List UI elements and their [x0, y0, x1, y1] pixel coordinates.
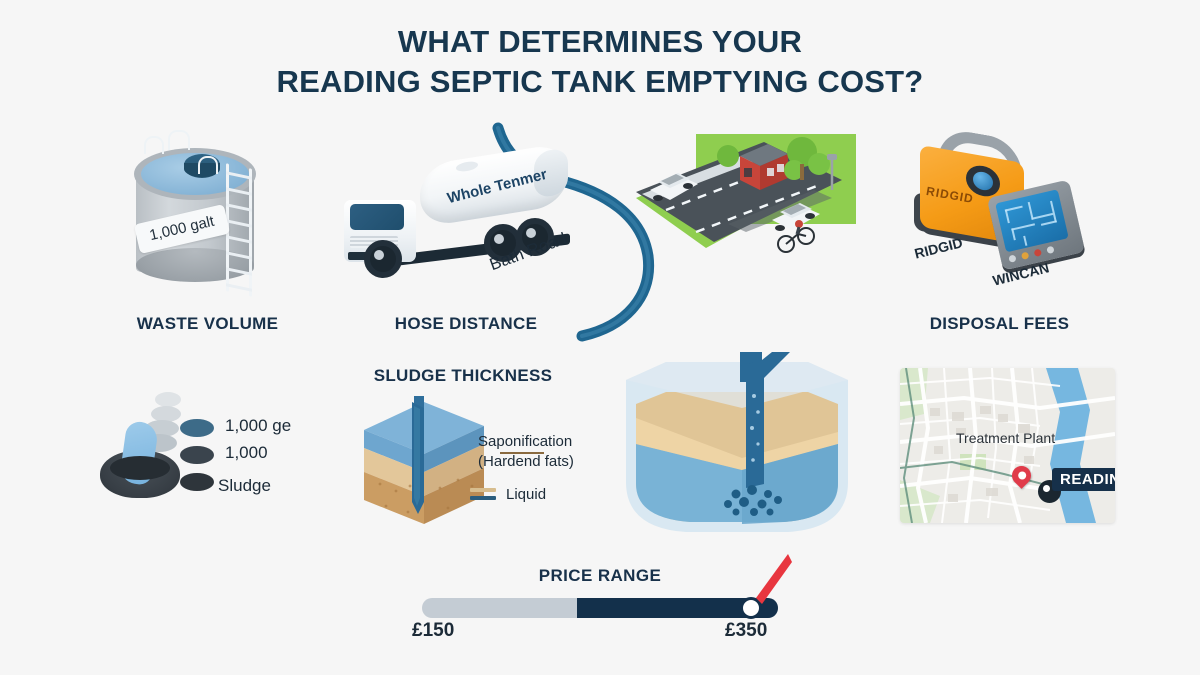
legend-label: 1,000 ge	[225, 416, 291, 436]
map-place-label: Treatment Plant	[956, 430, 1055, 446]
treatment-plant-map[interactable]: Treatment Plant READING	[900, 368, 1115, 523]
tank-rail	[144, 136, 164, 154]
page-title: WHAT DETERMINES YOUR READING SEPTIC TANK…	[0, 22, 1200, 102]
price-needle-icon	[752, 554, 792, 606]
septic-tank-cross-section-icon	[612, 352, 862, 542]
street-scene-icon	[636, 128, 856, 296]
title-line-1: WHAT DETERMINES YOUR	[398, 24, 802, 59]
callout-line-2: (Hardend fats)	[478, 453, 574, 470]
city-badge-reading: READING	[1052, 468, 1115, 491]
caption-disposal-fees: DISPOSAL FEES	[922, 314, 1077, 334]
liquid-legend-swatch-bottom	[470, 496, 496, 500]
title-line-2: READING SEPTIC TANK EMPTYING COST?	[0, 62, 1200, 102]
callout-saponification: Saponification (Hardend fats)	[478, 432, 574, 472]
wincan-screen	[995, 189, 1069, 252]
infographic-canvas: WHAT DETERMINES YOUR READING SEPTIC TANK…	[0, 0, 1200, 675]
truck-wheel	[364, 240, 402, 278]
legend-swatch	[180, 446, 214, 464]
tanker-truck-icon: Whole Tenmer Bath Road	[338, 148, 598, 288]
disposal-devices-group: RIDGID RIDGID WINCAN	[908, 130, 1108, 300]
liquid-legend-label: Liquid	[506, 485, 546, 505]
liquid-legend-swatch-top	[470, 488, 496, 492]
tank-rail	[168, 130, 190, 150]
caption-hose-distance: HOSE DISTANCE	[386, 314, 546, 334]
price-max-label: £350	[725, 620, 767, 642]
caption-waste-volume: WASTE VOLUME	[130, 314, 285, 334]
legend-label: 1,000	[225, 443, 268, 463]
caption-sludge-thickness: SLUDGE THICKNESS	[368, 366, 558, 386]
storage-tank-icon: 1,000 galt	[120, 126, 272, 286]
truck-windshield	[350, 204, 404, 230]
sludge-bowl-inner	[110, 456, 170, 480]
legend-swatch	[180, 473, 214, 491]
sludge-puff	[155, 392, 181, 407]
legend-label: Sludge	[218, 476, 271, 496]
tank-ladder-icon	[226, 163, 252, 297]
price-range-slider[interactable]	[422, 598, 778, 618]
legend-swatch	[180, 419, 214, 437]
device-label-ridgid: RIDGID	[913, 234, 964, 261]
price-min-label: £150	[412, 620, 454, 642]
price-range-title: PRICE RANGE	[0, 566, 1200, 586]
callout-line-1: Saponification	[478, 433, 572, 450]
tank-rail	[198, 156, 218, 174]
